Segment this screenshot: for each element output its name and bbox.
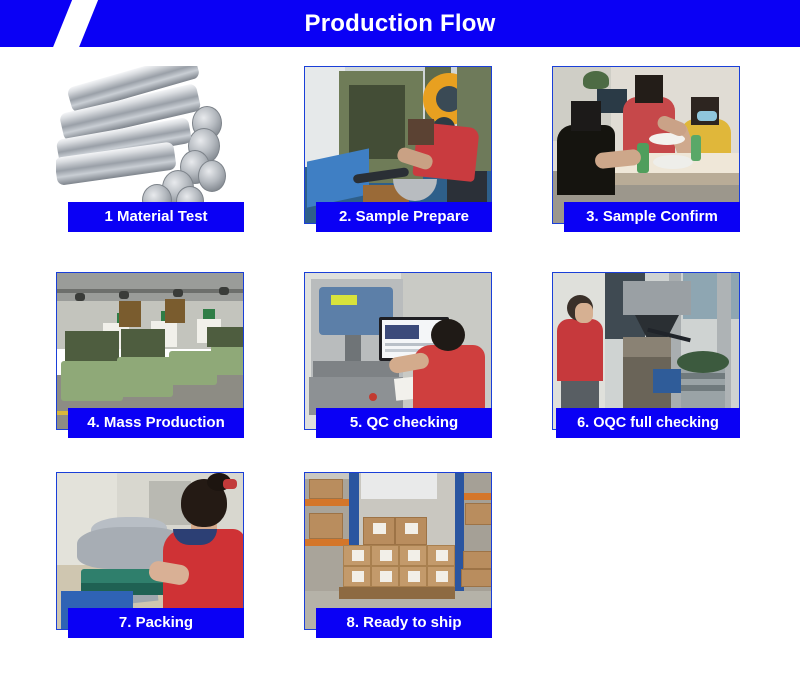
step-caption-8: 8. Ready to ship	[316, 608, 492, 638]
step-caption-2: 2. Sample Prepare	[316, 202, 492, 232]
step-card-7[interactable]: 7. Packing	[56, 472, 246, 638]
step-image-5	[304, 272, 492, 430]
step-caption-1: 1 Material Test	[68, 202, 244, 232]
step-card-3[interactable]: 3. Sample Confirm	[552, 66, 742, 232]
step-image-1	[56, 66, 246, 224]
step-caption-7: 7. Packing	[68, 608, 244, 638]
step-card-1[interactable]: 1 Material Test	[56, 66, 246, 232]
page-title: Production Flow	[0, 0, 800, 47]
step-caption-5: 5. QC checking	[316, 408, 492, 438]
step-card-6[interactable]: 6. OQC full checking	[552, 272, 742, 438]
step-card-8[interactable]: 8. Ready to ship	[304, 472, 494, 638]
step-image-4	[56, 272, 244, 430]
step-card-4[interactable]: 4. Mass Production	[56, 272, 246, 438]
step-caption-3: 3. Sample Confirm	[564, 202, 740, 232]
page-header: Production Flow	[0, 0, 800, 47]
step-card-2[interactable]: 2. Sample Prepare	[304, 66, 494, 232]
step-image-8	[304, 472, 492, 630]
step-image-6	[552, 272, 740, 430]
step-caption-6: 6. OQC full checking	[556, 408, 740, 438]
step-image-3	[552, 66, 740, 224]
production-flow-grid: 1 Material Test 2. Sample Prepare	[0, 47, 800, 690]
step-image-7	[56, 472, 244, 630]
step-image-2	[304, 66, 492, 224]
step-caption-4: 4. Mass Production	[68, 408, 244, 438]
step-card-5[interactable]: 5. QC checking	[304, 272, 494, 438]
